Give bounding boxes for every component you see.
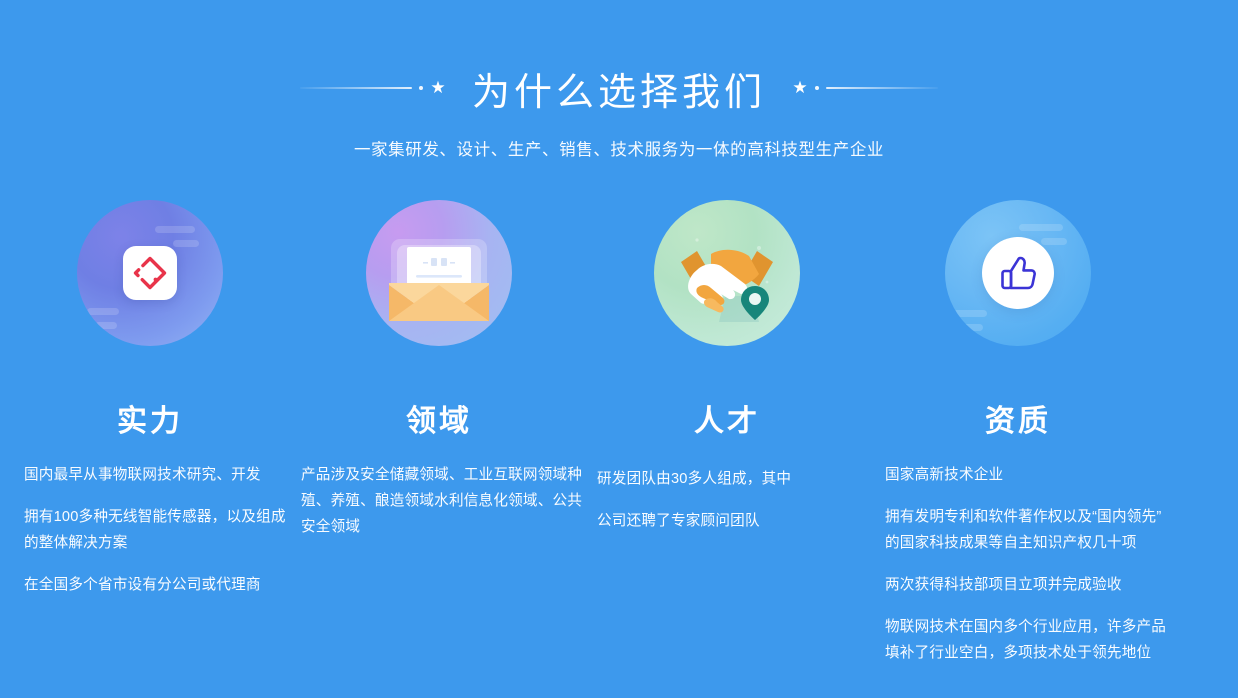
column-heading-field: 领域 [406, 396, 472, 440]
decoration-line-right [826, 87, 938, 89]
title-decoration-left: ★ [300, 78, 446, 98]
paragraph: 研发团队由30多人组成，其中 [597, 462, 867, 496]
paragraph: 在全国多个省市设有分公司或代理商 [24, 572, 300, 598]
column-heading-strength: 实力 [117, 396, 183, 440]
page-title: 为什么选择我们 [446, 61, 792, 116]
section-header: ★ 为什么选择我们 ★ 一家集研发、设计、生产、销售、技术服务为一体的高科技型生… [0, 0, 1238, 160]
star-icon-left: ★ [430, 80, 446, 96]
feature-column-field: 领域 产品涉及安全储藏领域、工业互联网领域种殖、养殖、酿造领域水利信息化领域、公… [290, 200, 580, 666]
feature-columns: 实力 国内最早从事物联网技术研究、开发 拥有100多种无线智能传感器，以及组成的… [0, 200, 1238, 666]
feature-column-talent: 人才 研发团队由30多人组成，其中 公司还聘了专家顾问团队 [580, 200, 870, 666]
diamond-badge-icon [77, 200, 223, 346]
paragraph: 国内最早从事物联网技术研究、开发 [24, 462, 300, 488]
column-heading-qualification: 资质 [985, 396, 1051, 440]
envelope-letter-icon [383, 221, 495, 325]
star-icon-right: ★ [792, 80, 808, 96]
title-decoration-right: ★ [792, 78, 938, 98]
paragraph: 拥有发明专利和软件著作权以及“国内领先”的国家科技成果等自主知识产权几十项 [885, 504, 1168, 556]
decoration-dot-right [815, 86, 819, 90]
paragraph: 两次获得科技部项目立项并完成验收 [885, 572, 1168, 598]
feature-column-strength: 实力 国内最早从事物联网技术研究、开发 拥有100多种无线智能传感器，以及组成的… [0, 200, 290, 666]
diamond-outline-icon [132, 255, 168, 291]
decoration-line-left [300, 87, 412, 89]
envelope-certificate-icon [366, 200, 512, 346]
paragraph: 公司还聘了专家顾问团队 [597, 504, 867, 538]
handshake-icon [654, 200, 800, 346]
why-choose-us-section: ★ 为什么选择我们 ★ 一家集研发、设计、生产、销售、技术服务为一体的高科技型生… [0, 0, 1238, 698]
section-subtitle: 一家集研发、设计、生产、销售、技术服务为一体的高科技型生产企业 [0, 136, 1238, 160]
feature-column-qualification: 资质 国家高新技术企业 拥有发明专利和软件著作权以及“国内领先”的国家科技成果等… [870, 200, 1160, 666]
column-body-qualification: 国家高新技术企业 拥有发明专利和软件著作权以及“国内领先”的国家科技成果等自主知… [868, 462, 1168, 666]
title-row: ★ 为什么选择我们 ★ [0, 62, 1238, 114]
paragraph: 拥有100多种无线智能传感器，以及组成的整体解决方案 [24, 504, 300, 556]
column-body-strength: 国内最早从事物联网技术研究、开发 拥有100多种无线智能传感器，以及组成的整体解… [0, 462, 300, 598]
handshake-illustration-icon [667, 218, 787, 328]
column-heading-talent: 人才 [694, 396, 760, 440]
thumbs-up-icon [945, 200, 1091, 346]
paragraph: 物联网技术在国内多个行业应用，许多产品填补了行业空白，多项技术处于领先地位 [885, 614, 1168, 666]
paragraph: 产品涉及安全储藏领域、工业互联网领域种殖、养殖、酿造领域水利信息化领域、公共安全… [301, 462, 585, 540]
thumbs-up-outline-icon [996, 251, 1040, 295]
column-body-field: 产品涉及安全储藏领域、工业互联网领域种殖、养殖、酿造领域水利信息化领域、公共安全… [293, 462, 585, 540]
paragraph: 国家高新技术企业 [885, 462, 1168, 488]
column-body-talent: 研发团队由30多人组成，其中 公司还聘了专家顾问团队 [587, 462, 867, 546]
decoration-dot-left [419, 86, 423, 90]
